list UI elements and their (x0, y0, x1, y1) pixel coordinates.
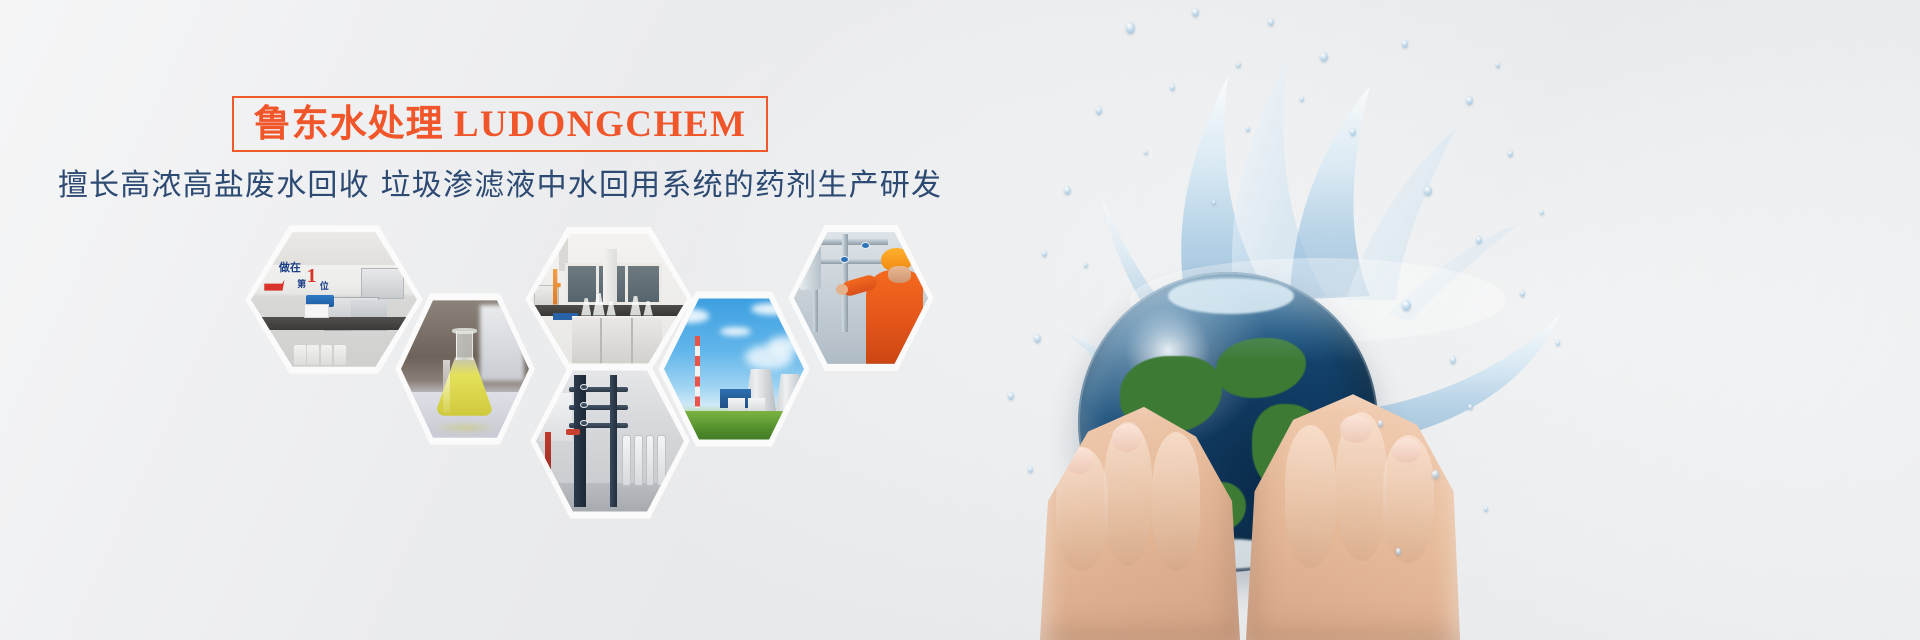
wall-slogan-b: 位 (320, 279, 329, 292)
wall-slogan: 做在 第 1 位 (264, 259, 337, 296)
wall-slogan-a: 第 (297, 277, 306, 290)
hex-photo-field-engineer (788, 222, 934, 374)
hero-banner: 鲁东水处理 LUDONGCHEM 擅长高浓高盐废水回收 垃圾渗滤液中水回用系统的… (0, 0, 1920, 640)
hexagon-photo-cluster: 做在 第 1 位 (0, 0, 1000, 640)
hex-photo-lab-room: 做在 第 1 位 (245, 222, 423, 377)
hex-photo-reagent-flask (395, 290, 535, 448)
wall-slogan-number: 1 (307, 265, 317, 288)
wall-slogan-top: 做在 (279, 259, 301, 275)
